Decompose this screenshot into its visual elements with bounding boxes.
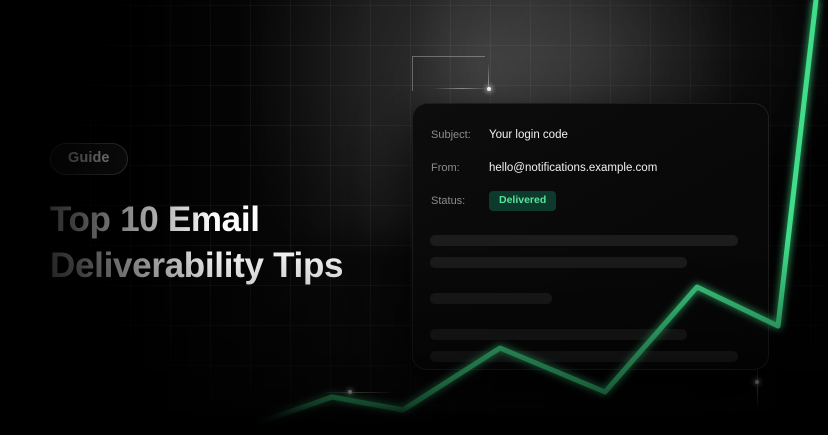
- skeleton-line: [430, 257, 687, 268]
- hero-text-block: Guide Top 10 Email Deliverability Tips: [50, 143, 410, 290]
- email-field-subject: Subject: Your login code: [431, 122, 768, 148]
- skeleton-line: [430, 293, 552, 304]
- email-body-skeleton: [413, 221, 768, 362]
- status-badge: Delivered: [489, 191, 556, 211]
- guide-badge: Guide: [50, 143, 128, 175]
- email-field-value: Your login code: [489, 129, 568, 141]
- page-title: Top 10 Email Deliverability Tips: [50, 197, 410, 290]
- email-field-label: Subject:: [431, 129, 489, 141]
- email-field-list: Subject: Your login code From: hello@not…: [413, 104, 768, 214]
- email-field-label: Status:: [431, 195, 489, 207]
- email-field-label: From:: [431, 162, 489, 174]
- email-field-status: Status: Delivered: [431, 188, 768, 214]
- hero-banner: Guide Top 10 Email Deliverability Tips S…: [0, 0, 828, 435]
- email-preview-card: Subject: Your login code From: hello@not…: [412, 103, 769, 370]
- email-field-from: From: hello@notifications.example.com: [431, 155, 768, 181]
- skeleton-line: [430, 351, 738, 362]
- skeleton-line: [430, 235, 738, 246]
- skeleton-line: [430, 329, 687, 340]
- email-field-value: hello@notifications.example.com: [489, 162, 657, 174]
